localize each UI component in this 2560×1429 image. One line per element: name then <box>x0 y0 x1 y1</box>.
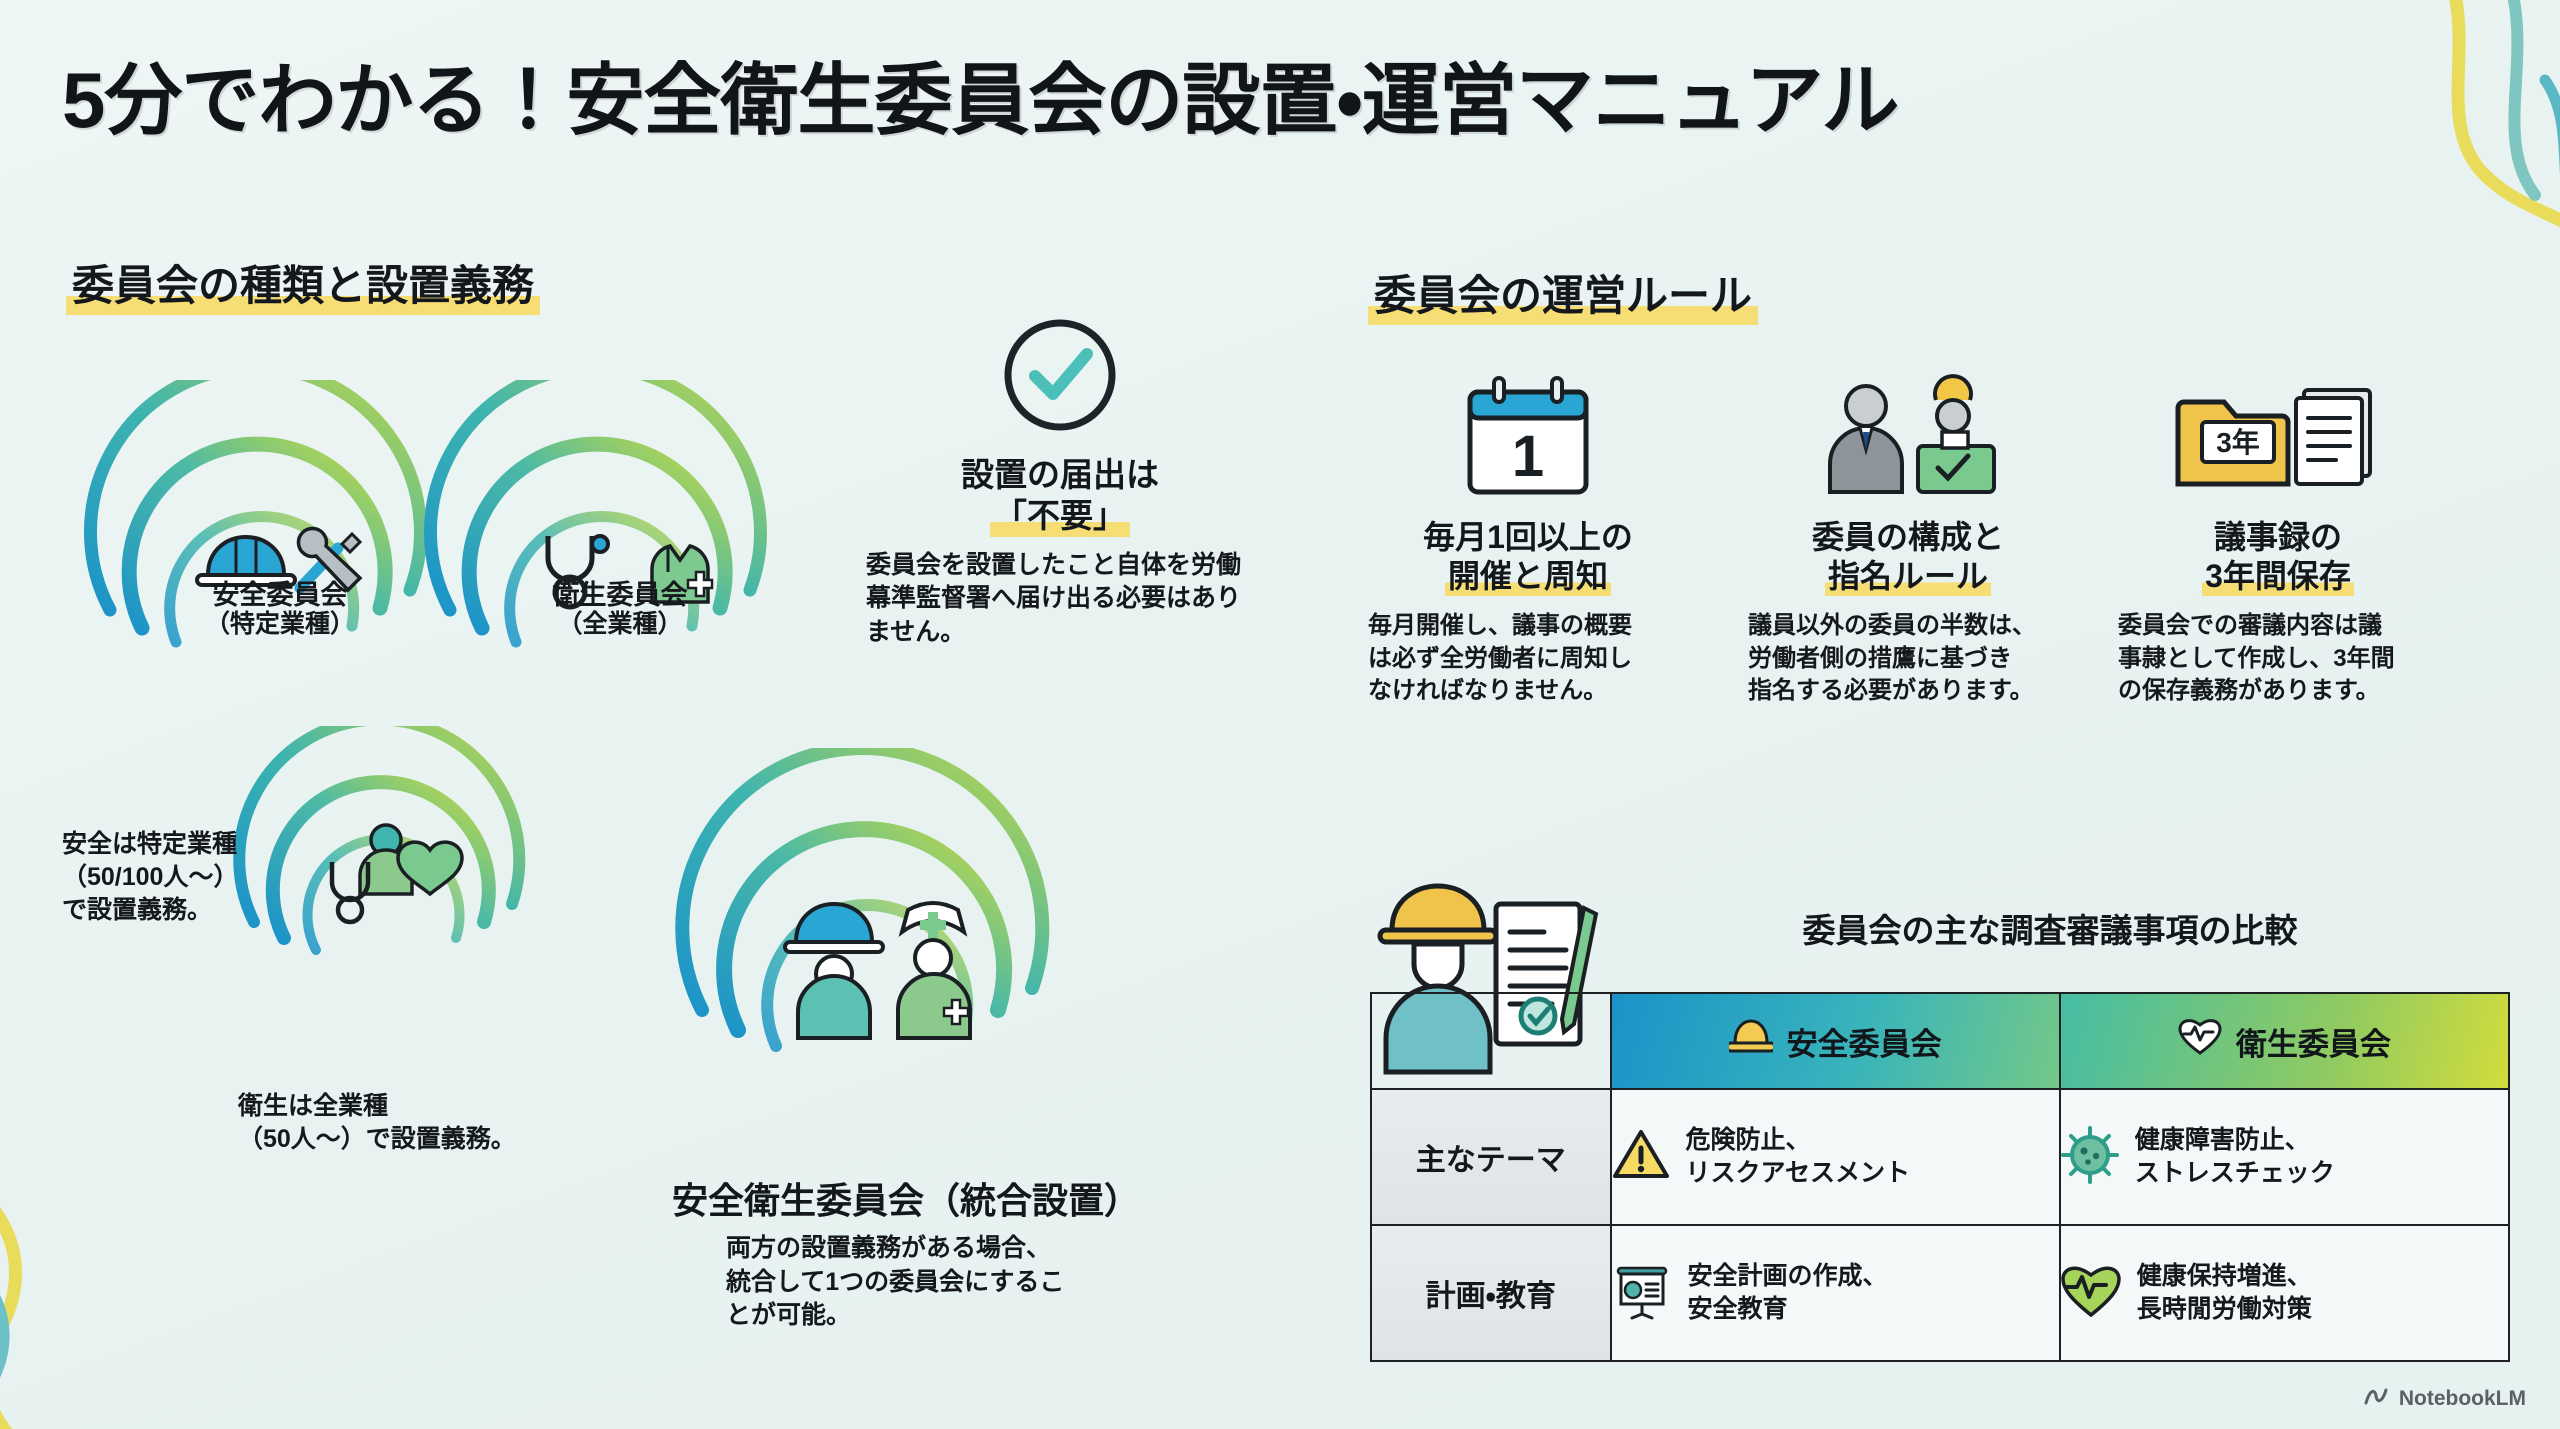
rule-body: 委員会での審議内容は議 事隷として作成し、3年間 の保存義務があります。 <box>2118 610 2438 708</box>
notebooklm-icon <box>2363 1385 2389 1413</box>
page-title: 5分でわかる！安全衛生委員会の設置・運営マニュアル <box>62 38 1899 150</box>
rule-body: 議員以外の委員の半数は、 労働者側の措鷹に基づき 指名する必要があります。 <box>1748 610 2068 708</box>
cell-theme-health-text: 健康障害防止、 ストレスチェック <box>2135 1124 2335 1191</box>
row-label-planning: 計画・教育 <box>1371 1225 1611 1361</box>
notification-title: 設置の届出は 「不要」 <box>860 454 1260 537</box>
cell-planning-health: 健康保持増進、 長時閒労働対策 <box>2060 1225 2509 1361</box>
rule-title-plain: 議事録の <box>2214 519 2342 555</box>
table-row: 計画・教育 安全計画の作成、 安全教育 <box>1371 1225 2509 1361</box>
column-header-health: 衛生委員会 <box>2060 993 2509 1089</box>
column-header-safety-label: 安全委員会 <box>1787 1019 1942 1064</box>
rule-card-meeting-frequency: 1 毎月1回以上の 開催と周知 毎月開催し、議事の概要 は必ず全労働者に周知し … <box>1368 370 1688 708</box>
notification-body: 委員会を設置したこと自体を労働幕準監督署へ届け出る必要はありません。 <box>860 549 1260 650</box>
footer-brand-label: NotebookLM <box>2399 1387 2526 1411</box>
notification-title-highlight: 「不要」 <box>990 495 1130 536</box>
notification-title-line1: 設置の届出は <box>961 456 1159 493</box>
folder-3years-icon: 3年 <box>2118 370 2438 500</box>
rule-title-highlight: 開催と周知 <box>1445 557 1611 596</box>
ribbon-top-right-icon <box>2130 0 2560 380</box>
rule-title: 委員の構成と 指名ルール <box>1748 518 2068 596</box>
folder-label: 3年 <box>2216 426 2260 458</box>
notification-block: 設置の届出は 「不要」 委員会を設置したこと自体を労働幕準監督署へ届け出る必要は… <box>860 310 1260 649</box>
check-circle-icon <box>860 310 1260 440</box>
combined-committee-title: 安全衛生委員会（統合設置） <box>672 1172 1232 1224</box>
presentation-chart-icon <box>1612 1262 1672 1325</box>
cell-theme-health: 健康障害防止、 ストレスチェック <box>2060 1089 2509 1225</box>
heart-pulse-icon <box>2061 1263 2121 1324</box>
section-heading-right: 委員会の運営ルール <box>1368 262 1758 325</box>
column-header-safety: 安全委員会 <box>1611 993 2060 1089</box>
svg-text:1: 1 <box>1512 424 1544 489</box>
rule-title-highlight: 指名ルール <box>1825 557 1991 596</box>
column-header-health-label: 衛生委員会 <box>2236 1019 2391 1064</box>
warning-triangle-icon <box>1612 1128 1670 1187</box>
circle-name-health: 衛生委員会 <box>420 580 820 610</box>
heartbeat-icon <box>2178 1017 2222 1065</box>
rule-title-plain: 毎月1回以上の <box>1423 519 1633 555</box>
note-safety-obligation: 安全は特定業種 （50/100人〜） で設置義務。 <box>62 828 238 927</box>
cell-planning-safety-text: 安全計画の作成、 安全教育 <box>1688 1260 1888 1327</box>
committee-circle-health: 衛生委員会 （全業種） <box>420 380 820 720</box>
combined-committee-body: 両方の設置義務がある場合、 統合して1つの委員会にするこ とが可能。 <box>726 1232 1232 1333</box>
cell-theme-safety-text: 危険防止、 リスクアセスメント <box>1686 1124 1911 1191</box>
rule-title-plain: 委員の構成と <box>1812 519 2004 555</box>
ribbon-bottom-left-icon <box>0 1029 350 1429</box>
cell-planning-health-text: 健康保持増進、 長時閒労働対策 <box>2137 1260 2312 1327</box>
circle-scope-health: （全業種） <box>420 610 820 638</box>
footer-brand: NotebookLM <box>2363 1385 2526 1413</box>
combined-committee-block: 安全衛生委員会（統合設置） 両方の設置義務がある場合、 統合して1つの委員会にす… <box>672 1172 1232 1333</box>
rule-title-highlight: 3年間保存 <box>2202 557 2354 596</box>
section-heading-left: 委員会の種類と設置義務 <box>66 252 540 315</box>
rule-body: 毎月開催し、議事の概要 は必ず全労働者に周知し なければなりません。 <box>1368 610 1688 708</box>
members-ballot-icon <box>1748 370 2068 500</box>
cell-planning-safety: 安全計画の作成、 安全教育 <box>1611 1225 2060 1361</box>
note-health-obligation: 衛生は全業種 （50人〜）で設置義務。 <box>238 1090 516 1156</box>
comparison-table: 安全委員会 衛生委員会 主なテ <box>1370 992 2510 1362</box>
cell-theme-safety: 危険防止、 リスクアセスメント <box>1611 1089 2060 1225</box>
infographic-page: 5分でわかる！安全衛生委員会の設置・運営マニュアル 委員会の種類と設置義務 委員… <box>0 0 2560 1429</box>
table-corner-blank <box>1371 993 1611 1089</box>
rule-card-member-composition: 委員の構成と 指名ルール 議員以外の委員の半数は、 労働者側の措鷹に基づき 指名… <box>1748 370 2068 708</box>
virus-icon <box>2061 1126 2119 1189</box>
table-header-row: 安全委員会 衛生委員会 <box>1371 993 2509 1089</box>
rule-title: 議事録の 3年間保存 <box>2118 518 2438 596</box>
calendar-one-icon: 1 <box>1368 370 1688 500</box>
comparison-title: 委員会の主な調査審議事項の比較 <box>1610 904 2490 952</box>
committee-circle-wellbeing <box>230 726 560 1026</box>
table-row: 主なテーマ 危険防止、 リスクアセスメント <box>1371 1089 2509 1225</box>
yellow-helmet-icon <box>1729 1019 1773 1063</box>
rule-card-minutes-retention: 3年 議事録の 3年間保存 委員会での審議内容は議 事隷として作成し、3年間 の… <box>2118 370 2438 708</box>
committee-circle-combined <box>672 748 1092 1148</box>
row-label-theme: 主なテーマ <box>1371 1089 1611 1225</box>
circle-label-health: 衛生委員会 （全業種） <box>420 580 820 638</box>
rule-title: 毎月1回以上の 開催と周知 <box>1368 518 1688 596</box>
